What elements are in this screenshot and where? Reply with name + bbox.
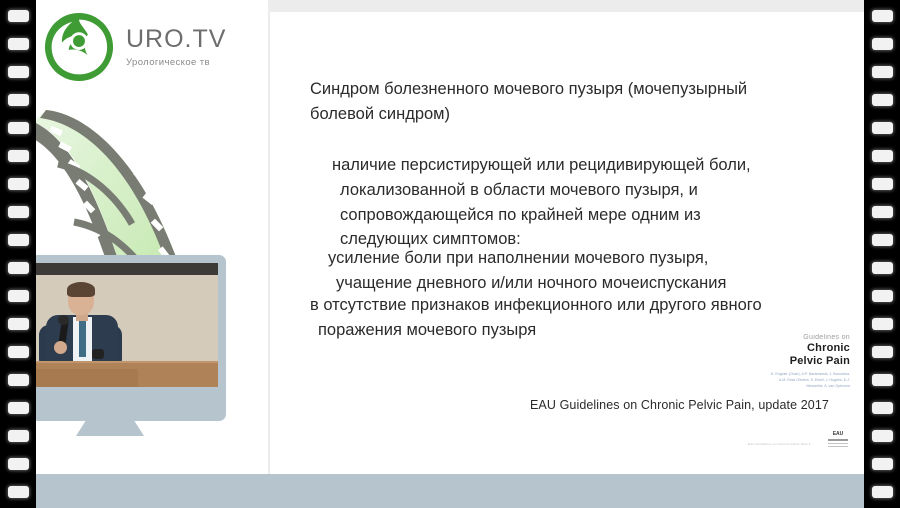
eau-logo-icon: EAU — [828, 432, 848, 449]
film-perforation — [872, 38, 893, 50]
slide-citation: EAU Guidelines on Chronic Pelvic Pain, u… — [530, 398, 829, 412]
filmstrip-right-border — [864, 0, 900, 508]
film-perforation — [8, 178, 29, 190]
film-perforation — [8, 10, 29, 22]
film-perforation — [8, 38, 29, 50]
eau-logo-bar-3 — [828, 446, 848, 448]
film-perforation — [872, 206, 893, 218]
film-perforation — [8, 318, 29, 330]
presenter-clicker-icon — [92, 349, 104, 359]
brand-title: URO.TV — [126, 27, 226, 52]
video-wall-top — [6, 263, 218, 275]
bullet-2-line-2: учащение дневного и/или ночного мочеиспу… — [328, 271, 848, 296]
eau-logo-bar-2 — [828, 443, 848, 445]
film-perforation — [872, 150, 893, 162]
film-perforation — [872, 290, 893, 302]
presentation-slide: Синдром болезненного мочевого пузыря (мо… — [270, 12, 870, 474]
guidelines-cover-line-pelvic: Pelvic Pain — [766, 355, 850, 368]
speaker-tie — [79, 319, 86, 357]
slide-footer-note: EAU Guidelines on Chronic Pelvic Pain 20… — [748, 442, 810, 446]
bullet-1-line-2: локализованной в области мочевого пузыря… — [332, 178, 852, 203]
film-perforation — [872, 430, 893, 442]
bullet-3-line-1: в отсутствие признаков инфекционного или… — [310, 296, 762, 314]
film-perforation — [872, 318, 893, 330]
guidelines-book-cover-image: Guidelines on Chronic Pelvic Pain D. Eng… — [766, 334, 852, 390]
microphone-head-icon — [58, 315, 69, 325]
film-perforation — [8, 346, 29, 358]
speaker-hand — [54, 341, 67, 354]
film-perforation — [8, 150, 29, 162]
film-perforation — [8, 458, 29, 470]
film-perforation — [8, 486, 29, 498]
brand-text-block: URO.TV Урологическое тв — [126, 27, 226, 68]
player-bottom-bar[interactable] — [36, 474, 864, 508]
uro-aperture-logo-icon — [42, 10, 116, 84]
guidelines-cover-line-chronic: Chronic — [766, 342, 850, 355]
eau-logo-bar-1 — [828, 439, 848, 441]
film-perforation — [8, 206, 29, 218]
guidelines-cover-line-on: Guidelines on — [766, 334, 850, 342]
slide-title: Синдром болезненного мочевого пузыря (мо… — [310, 77, 850, 127]
brand-subtitle: Урологическое тв — [126, 58, 226, 68]
film-perforation — [872, 402, 893, 414]
video-screen[interactable] — [6, 263, 218, 405]
speaker-hair — [67, 282, 95, 297]
monitor-stand — [76, 421, 144, 436]
film-perforation — [8, 234, 29, 246]
podium-face — [20, 369, 138, 387]
film-perforation — [872, 458, 893, 470]
film-perforation — [8, 122, 29, 134]
film-perforation — [872, 486, 893, 498]
bullet-1-line-1: наличие персистирующей или рецидивирующе… — [332, 156, 751, 174]
slide-title-line-1: Синдром болезненного мочевого пузыря (мо… — [310, 80, 747, 98]
film-perforation — [8, 402, 29, 414]
bullet-2-line-1: усиление боли при наполнении мочевого пу… — [328, 249, 708, 267]
video-floor — [6, 387, 218, 405]
film-perforation — [8, 94, 29, 106]
filmstrip-left-border — [0, 0, 36, 508]
film-perforation — [872, 262, 893, 274]
slide-bullet-2: усиление боли при наполнении мочевого пу… — [328, 246, 848, 296]
bullet-1-line-3: сопровождающейся по крайней мере одним и… — [332, 203, 852, 228]
film-perforation — [872, 94, 893, 106]
eau-logo-text: EAU — [828, 432, 848, 438]
film-perforation — [8, 262, 29, 274]
film-perforation — [872, 10, 893, 22]
film-perforation — [8, 290, 29, 302]
film-perforation — [8, 430, 29, 442]
film-perforation — [872, 66, 893, 78]
left-panel-base — [72, 440, 268, 474]
film-perforation — [8, 66, 29, 78]
film-perforation — [8, 374, 29, 386]
brand-lockup: URO.TV Урологическое тв — [42, 10, 226, 84]
film-perforation — [872, 122, 893, 134]
guidelines-cover-authors: D. Engeler (Chair), A.P. Baranowski, J. … — [766, 371, 850, 389]
slide-title-line-2: болевой синдром) — [310, 105, 450, 123]
film-perforation — [872, 234, 893, 246]
film-perforation — [872, 178, 893, 190]
film-perforation — [872, 346, 893, 358]
slide-bullet-1: наличие персистирующей или рецидивирующе… — [332, 153, 852, 252]
video-player-frame: URO.TV Урологическое тв — [0, 0, 900, 508]
film-perforation — [872, 374, 893, 386]
